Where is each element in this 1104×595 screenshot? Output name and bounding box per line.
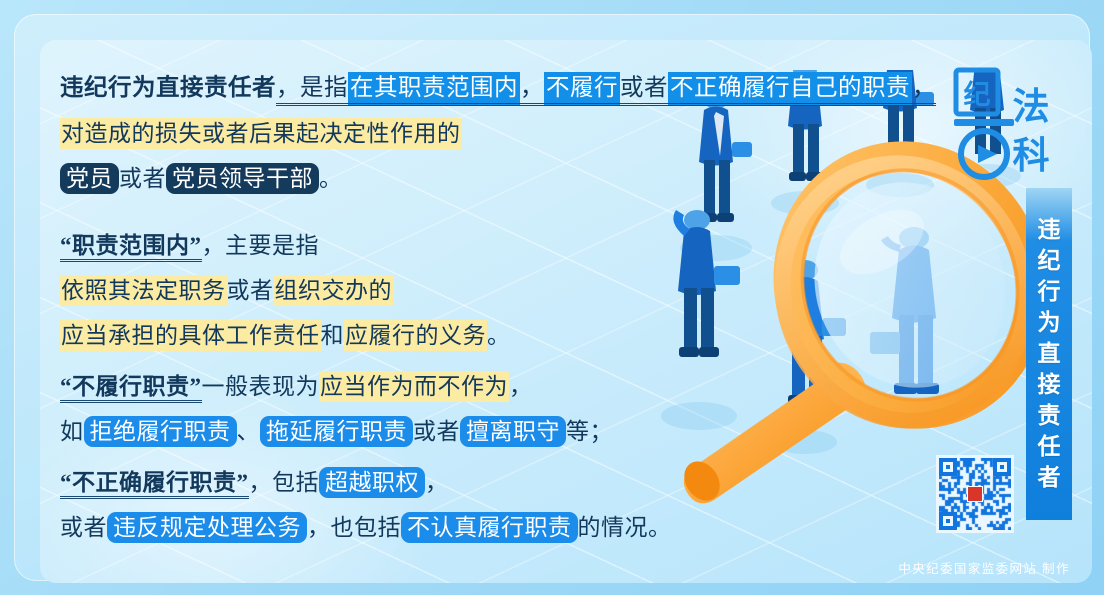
text-term: “不正确履行职责” bbox=[60, 470, 249, 499]
text-plain: ， bbox=[520, 75, 544, 106]
text-badge-blue: 不认真履行职责 bbox=[401, 512, 578, 543]
logo-char-fa: 法 bbox=[1013, 86, 1050, 128]
text-plain: ，包括 bbox=[249, 470, 320, 495]
vbanner-char: 直 bbox=[1038, 338, 1061, 369]
magnifier-handle bbox=[677, 355, 875, 508]
logo-char-ke: 科 bbox=[1013, 135, 1050, 177]
vbanner-char: 者 bbox=[1038, 462, 1061, 493]
text-plain: 或者 bbox=[620, 75, 668, 106]
text-badge-navy: 党员领导干部 bbox=[166, 163, 319, 194]
text-badge-blue: 擅离职守 bbox=[460, 416, 566, 447]
text-line: 如拒绝履行职责、拖延履行职责或者擅离职守等； bbox=[60, 409, 700, 454]
text-plain: ， bbox=[509, 374, 533, 399]
text-plain: 等； bbox=[566, 419, 613, 444]
logo-bar bbox=[954, 119, 1014, 126]
text-highlight-yellow: 依照其法定职务 bbox=[60, 275, 227, 306]
vbanner-char: 行 bbox=[1038, 276, 1061, 307]
text-plain: 或者 bbox=[413, 419, 460, 444]
qr-code[interactable] bbox=[936, 455, 1014, 533]
text-plain: 一般表现为 bbox=[202, 374, 320, 399]
vbanner-char: 违 bbox=[1038, 214, 1061, 245]
text-highlight-yellow: 应履行的义务 bbox=[344, 320, 487, 351]
text-plain: 。 bbox=[319, 166, 343, 191]
brand-logo-svg: 纪 法 科 bbox=[952, 64, 1056, 180]
qr-finder-top-left bbox=[939, 458, 957, 476]
text-line: 或者违反规定处理公务，也包括不认真履行职责的情况。 bbox=[60, 505, 700, 550]
play-triangle-icon bbox=[978, 145, 997, 163]
text-term: “不履行职责” bbox=[60, 374, 202, 403]
text-plain: ， bbox=[912, 75, 936, 106]
text-line: 应当承担的具体工作责任和应履行的义务。 bbox=[60, 313, 700, 358]
paragraph-failure-to-perform: “不履行职责”一般表现为应当作为而不作为， 如拒绝履行职责、拖延履行职责或者擅离… bbox=[60, 364, 700, 454]
text-highlight-yellow: 应当承担的具体工作责任 bbox=[60, 320, 321, 351]
text-line: “不正确履行职责”，包括超越职权， bbox=[60, 460, 700, 505]
qr-code-inner bbox=[939, 458, 1011, 530]
text-badge-blue: 违反规定处理公务 bbox=[107, 512, 307, 543]
text-plain: 或者 bbox=[119, 166, 166, 191]
text-plain: ，主要是指 bbox=[202, 233, 320, 258]
paragraph-scope-of-duty: “职责范围内”，主要是指 依照其法定职务或者组织交办的 应当承担的具体工作责任和… bbox=[60, 223, 700, 358]
figure-6 bbox=[786, 260, 846, 405]
text-plain: 、 bbox=[237, 419, 261, 444]
vertical-title-banner: 违 纪 行 为 直 接 责 任 者 bbox=[1026, 188, 1072, 520]
text-plain: 如 bbox=[60, 419, 84, 444]
text-highlight-blue: 不正确履行自己的职责 bbox=[668, 72, 912, 106]
article-text: 违纪行为直接责任者，是指在其职责范围内，不履行或者不正确履行自己的职责， 对造成… bbox=[60, 66, 700, 556]
text-highlight-yellow: 组织交办的 bbox=[274, 275, 394, 306]
qr-center-logo bbox=[967, 486, 983, 502]
text-term: “职责范围内” bbox=[60, 233, 202, 262]
qr-finder-top-right bbox=[993, 458, 1011, 476]
text-plain: ， bbox=[425, 470, 449, 495]
vbanner-char: 责 bbox=[1038, 400, 1061, 431]
text-line: “不履行职责”一般表现为应当作为而不作为， bbox=[60, 364, 700, 409]
paragraph-improper-performance: “不正确履行职责”，包括超越职权， 或者违反规定处理公务，也包括不认真履行职责的… bbox=[60, 460, 700, 550]
vbanner-char: 接 bbox=[1038, 369, 1061, 400]
text-line: 违纪行为直接责任者，是指在其职责范围内，不履行或者不正确履行自己的职责， bbox=[60, 66, 700, 111]
text-plain: ，是指 bbox=[276, 75, 348, 106]
text-badge-blue: 拖延履行职责 bbox=[260, 416, 413, 447]
footer-credit: 中央纪委国家监委网站 制作 bbox=[898, 558, 1070, 577]
text-line: 党员或者党员领导干部。 bbox=[60, 156, 700, 201]
text-plain: 或者 bbox=[227, 278, 274, 303]
text-badge-blue: 拒绝履行职责 bbox=[84, 416, 237, 447]
text-badge-navy: 党员 bbox=[60, 163, 119, 194]
text-plain: 的情况。 bbox=[578, 515, 672, 540]
text-plain: 或者 bbox=[60, 515, 107, 540]
vbanner-char: 为 bbox=[1038, 307, 1061, 338]
text-line: “职责范围内”，主要是指 bbox=[60, 223, 700, 268]
text-highlight-yellow: 对造成的损失或者后果起决定性作用的 bbox=[60, 118, 462, 149]
text-bold: 违纪行为直接责任者 bbox=[60, 75, 276, 101]
text-plain: 。 bbox=[487, 323, 511, 348]
brand-logo[interactable]: 纪 法 科 bbox=[952, 64, 1056, 180]
vbanner-char: 任 bbox=[1038, 431, 1061, 462]
text-plain: 和 bbox=[321, 323, 345, 348]
content-panel: 违纪行为直接责任者，是指在其职责范围内，不履行或者不正确履行自己的职责， 对造成… bbox=[40, 40, 1092, 583]
text-plain: ，也包括 bbox=[307, 515, 401, 540]
qr-finder-bottom-left bbox=[939, 512, 957, 530]
text-line: 依照其法定职务或者组织交办的 bbox=[60, 268, 700, 313]
vbanner-char: 纪 bbox=[1038, 245, 1061, 276]
text-highlight-yellow: 应当作为而不作为 bbox=[319, 371, 509, 402]
paragraph-definition: 违纪行为直接责任者，是指在其职责范围内，不履行或者不正确履行自己的职责， 对造成… bbox=[60, 66, 700, 201]
outer-frame: 违纪行为直接责任者，是指在其职责范围内，不履行或者不正确履行自己的职责， 对造成… bbox=[14, 14, 1090, 581]
text-highlight-blue: 不履行 bbox=[544, 72, 620, 106]
logo-char-ji: 纪 bbox=[964, 79, 991, 110]
text-line: 对造成的损失或者后果起决定性作用的 bbox=[60, 111, 700, 156]
text-highlight-blue: 在其职责范围内 bbox=[348, 72, 520, 106]
text-badge-blue: 超越职权 bbox=[319, 467, 425, 498]
